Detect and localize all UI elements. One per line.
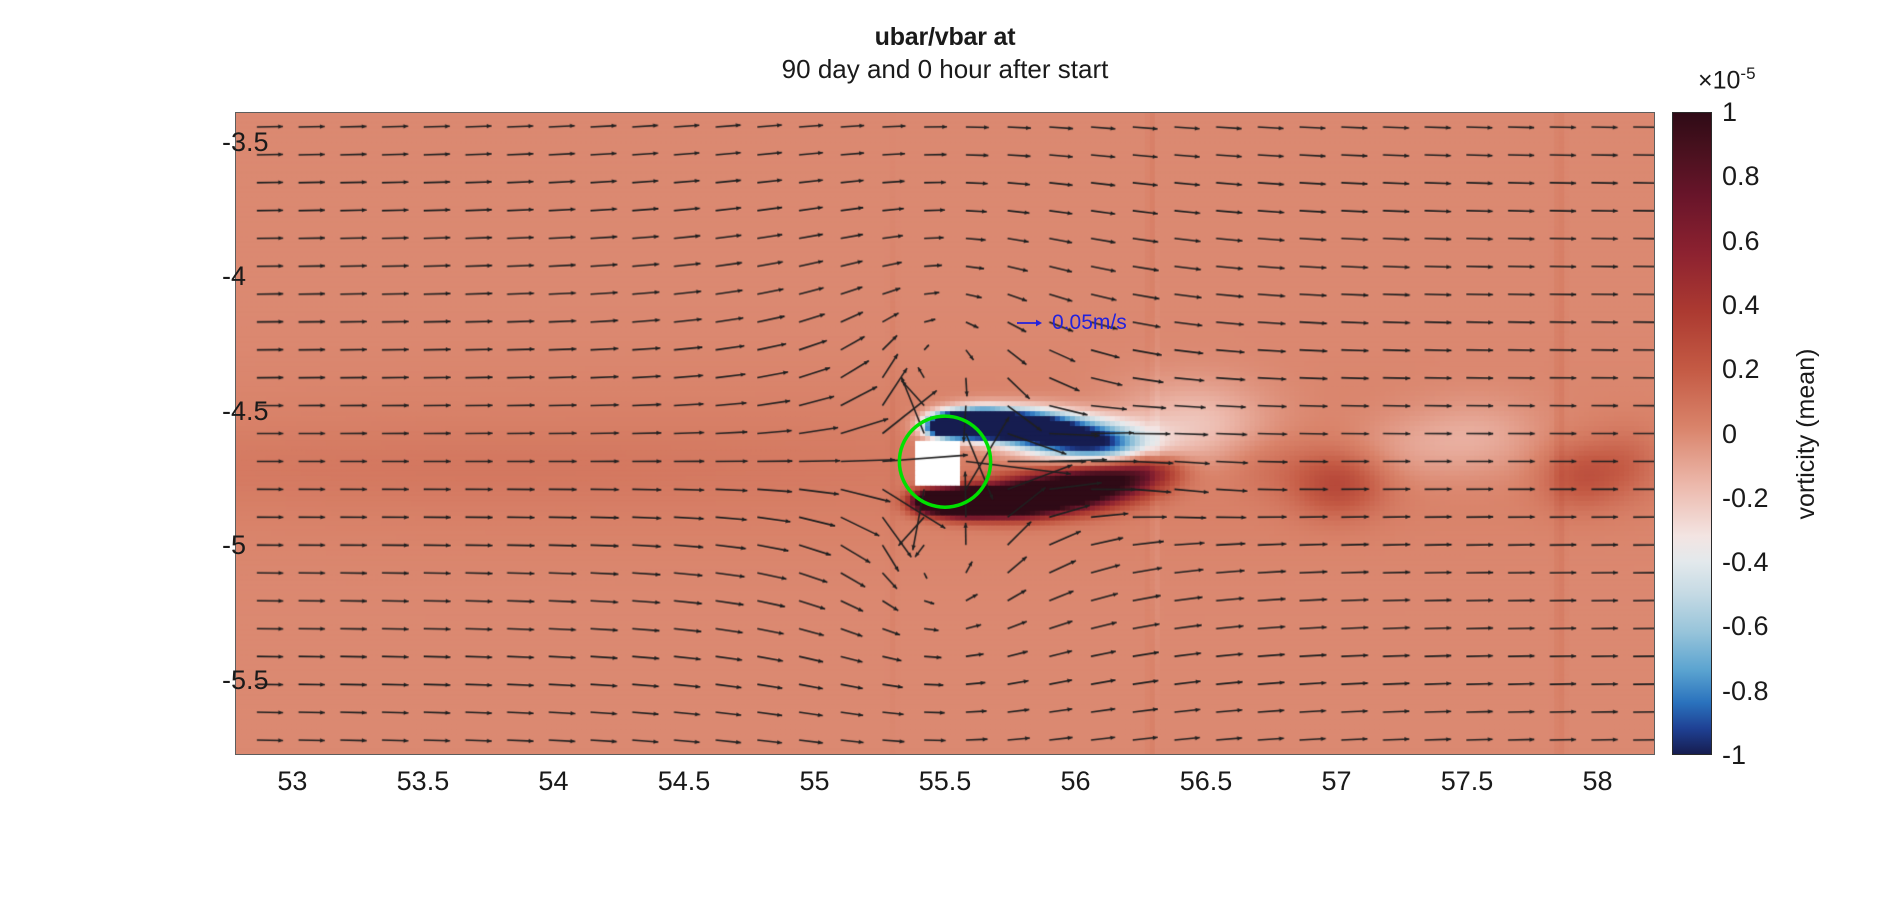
plot-axes[interactable]: 0.05m/s	[235, 112, 1655, 755]
x-axis-tick-label: 56.5	[1180, 766, 1233, 796]
colorbar-axis-label: vorticity (mean)	[1793, 349, 1819, 520]
colorbar-tick-label: 1	[1722, 97, 1737, 127]
colorbar-tick-label: -0.6	[1722, 611, 1769, 641]
y-axis-tick-label: -4	[222, 261, 246, 291]
quiver-scale-label: 0.05m/s	[1052, 312, 1127, 334]
island-outline-circle	[899, 416, 990, 507]
x-axis-tick-label: 55	[799, 766, 829, 796]
y-axis-tick-label: -3.5	[222, 127, 269, 157]
x-axis-tick-label: 53	[277, 766, 307, 796]
x-axis-tick-label: 53.5	[397, 766, 450, 796]
colorbar-tick-label: 0.2	[1722, 354, 1760, 384]
page-title: ubar/vbar at	[235, 22, 1655, 52]
x-axis-tick-label: 54.5	[658, 766, 711, 796]
colorbar-exponent-multiplier: ×10-5	[1698, 60, 1756, 94]
y-axis-tick-label: -5	[222, 530, 246, 560]
colorbar-tick-label: 0.4	[1722, 290, 1760, 320]
figure-subtitle: 90 day and 0 hour after start	[235, 52, 1655, 86]
figure-canvas: ubar/vbar at 90 day and 0 hour after sta…	[0, 0, 1892, 898]
colorbar-tick-label: -0.2	[1722, 483, 1769, 513]
x-axis-tick-label: 57.5	[1441, 766, 1494, 796]
colorbar-tick-label: 0.6	[1722, 226, 1760, 256]
colorbar-tick-label: -1	[1722, 740, 1746, 770]
colorbar-tick-label: -0.4	[1722, 547, 1769, 577]
colorbar-tick-label: -0.8	[1722, 676, 1769, 706]
y-axis-tick-label: -4.5	[222, 396, 269, 426]
colorbar[interactable]	[1672, 112, 1712, 755]
x-axis-tick-label: 58	[1583, 766, 1613, 796]
x-axis-tick-label: 57	[1322, 766, 1352, 796]
overlay-layer	[236, 113, 1654, 754]
figure-title-block: ubar/vbar at 90 day and 0 hour after sta…	[235, 22, 1655, 86]
x-axis-tick-label: 56	[1060, 766, 1090, 796]
right-arrow-icon	[1016, 317, 1042, 329]
x-axis-tick-label: 55.5	[919, 766, 972, 796]
quiver-scale-legend: 0.05m/s	[1016, 312, 1127, 334]
x-axis-tick-label: 54	[538, 766, 568, 796]
colorbar-tick-label: 0	[1722, 419, 1737, 449]
colorbar-tick-label: 0.8	[1722, 161, 1760, 191]
y-axis-tick-label: -5.5	[222, 665, 269, 695]
